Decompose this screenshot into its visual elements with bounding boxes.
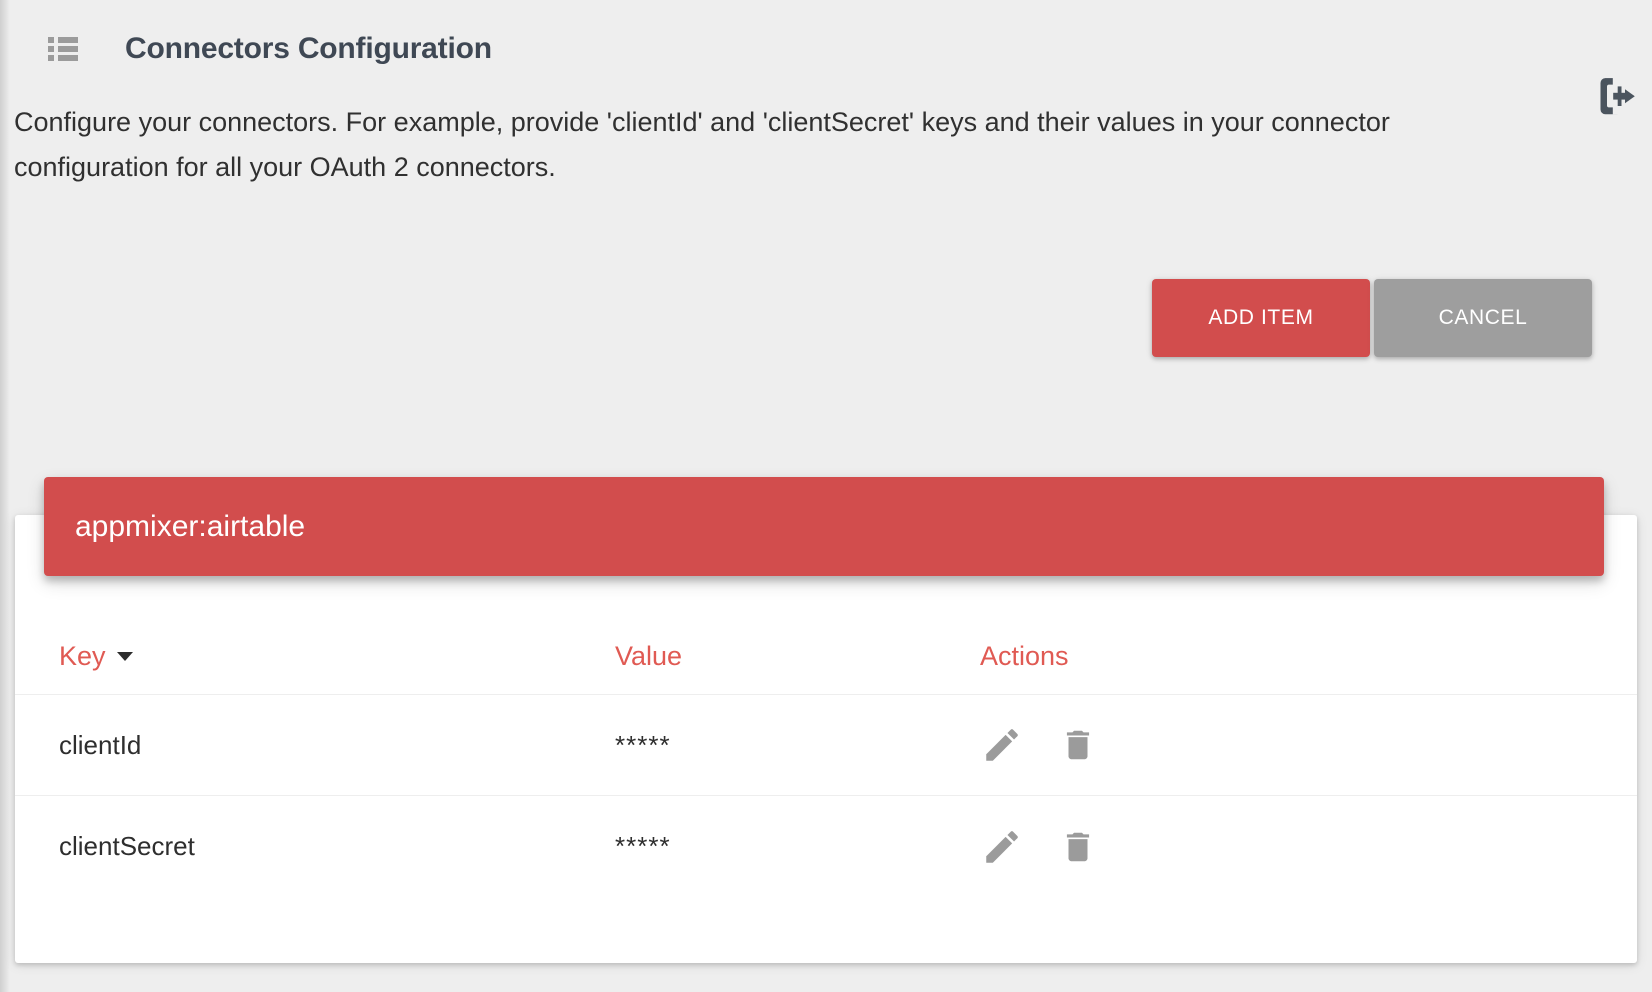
column-header-actions: Actions bbox=[980, 641, 1280, 672]
table-row: clientId ***** bbox=[15, 695, 1637, 796]
table-row: clientSecret ***** bbox=[15, 796, 1637, 897]
cell-value: ***** bbox=[615, 831, 980, 862]
connector-banner-title: appmixer:airtable bbox=[75, 510, 305, 544]
logout-icon[interactable] bbox=[1592, 72, 1640, 120]
cell-value: ***** bbox=[615, 730, 980, 761]
connector-banner: appmixer:airtable bbox=[44, 477, 1604, 576]
connectors-configuration-page: Connectors Configuration Configure your … bbox=[0, 0, 1652, 992]
page-description: Configure your connectors. For example, … bbox=[14, 100, 1434, 190]
chevron-down-icon bbox=[117, 652, 133, 661]
page-title: Connectors Configuration bbox=[125, 32, 492, 66]
column-header-value[interactable]: Value bbox=[615, 641, 980, 672]
cell-actions bbox=[980, 723, 1280, 767]
pencil-icon[interactable] bbox=[980, 825, 1024, 869]
trash-icon[interactable] bbox=[1056, 723, 1100, 767]
cell-actions bbox=[980, 825, 1280, 869]
column-header-key-label: Key bbox=[59, 641, 106, 672]
view-list-icon bbox=[48, 37, 78, 61]
add-item-button[interactable]: ADD ITEM bbox=[1152, 279, 1370, 357]
page-header: Connectors Configuration bbox=[0, 14, 1652, 84]
cell-key: clientId bbox=[15, 730, 615, 761]
panel-edge-shadow bbox=[0, 0, 10, 992]
column-header-key[interactable]: Key bbox=[15, 641, 615, 672]
pencil-icon[interactable] bbox=[980, 723, 1024, 767]
cell-key: clientSecret bbox=[15, 831, 615, 862]
cancel-button[interactable]: CANCEL bbox=[1374, 279, 1592, 357]
toolbar: ADD ITEM CANCEL bbox=[0, 279, 1652, 357]
trash-icon[interactable] bbox=[1056, 825, 1100, 869]
